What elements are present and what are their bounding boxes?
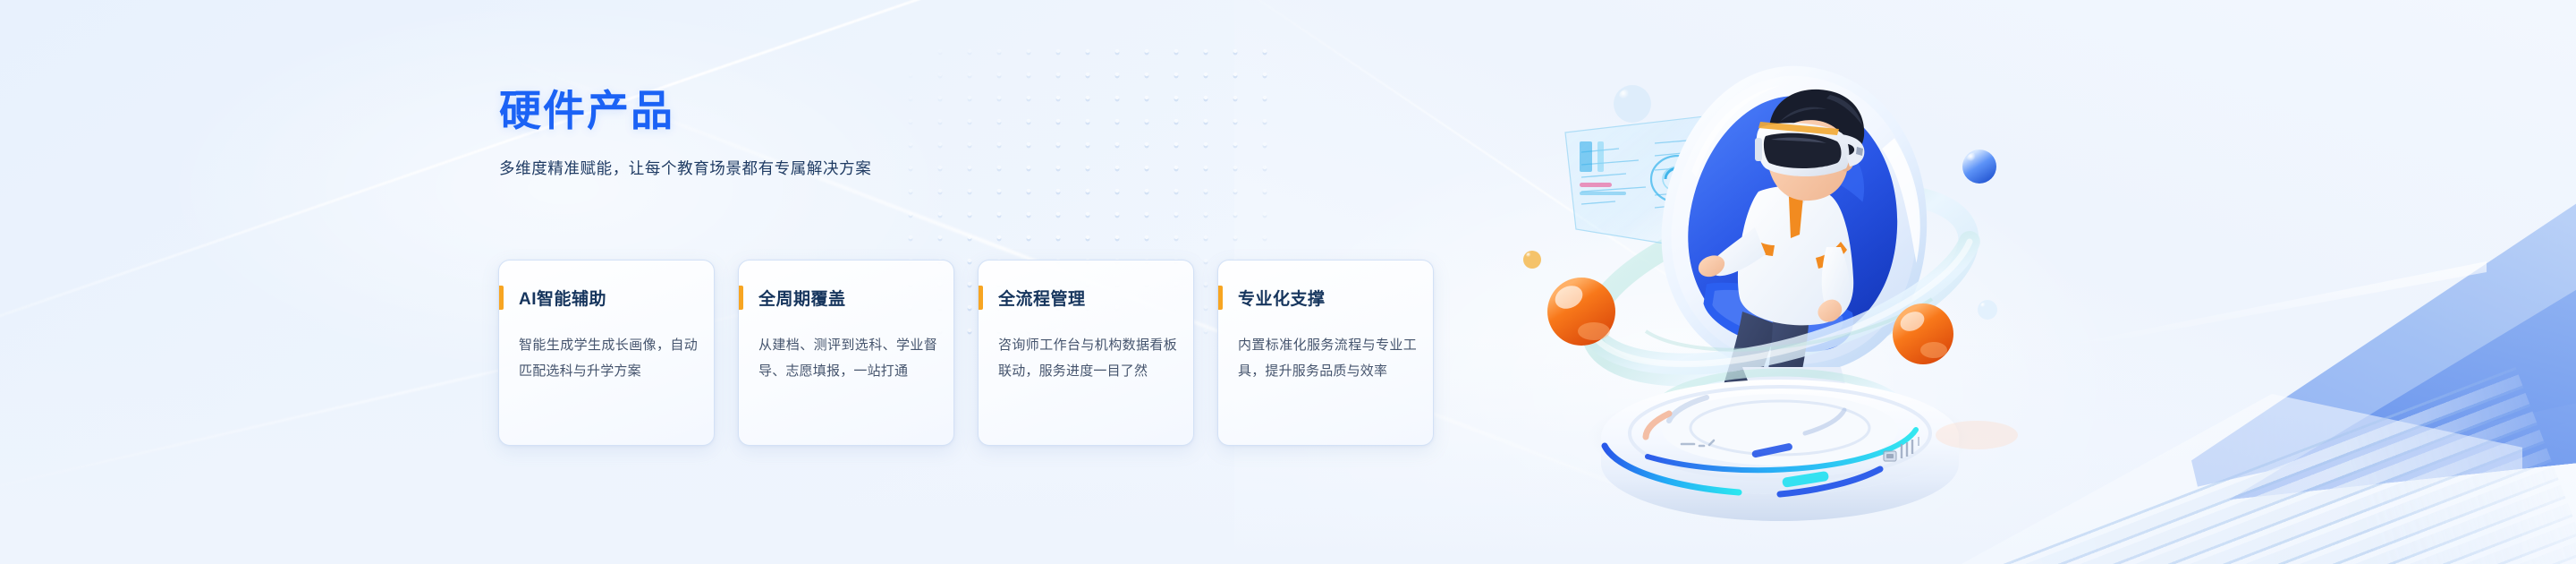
card-body-text: 从建档、测评到选科、学业督导、志愿填报，一站打通	[758, 332, 937, 385]
card-title: AI智能辅助	[519, 286, 606, 310]
sphere-glass-top	[1614, 85, 1651, 123]
feature-card-full-process[interactable]: 全流程管理 咨询师工作台与机构数据看板联动，服务进度一目了然	[978, 260, 1194, 446]
card-title: 全周期覆盖	[758, 286, 846, 310]
accent-bar-icon	[1218, 286, 1223, 310]
hardware-product-banner: 硬件产品 多维度精准赋能，让每个教育场景都有专属解决方案 AI智能辅助 智能生成…	[0, 0, 2576, 564]
card-header: AI智能辅助	[499, 286, 606, 310]
card-header: 专业化支撑	[1218, 286, 1326, 310]
page-title: 硬件产品	[499, 88, 1465, 135]
card-body-text: 智能生成学生成长画像，自动匹配选科与升学方案	[519, 332, 698, 385]
sphere-orange-left	[1547, 278, 1615, 346]
accent-bar-icon	[499, 286, 504, 310]
vr-student-pod-illustration	[1512, 16, 2048, 553]
card-body-text: 内置标准化服务流程与专业工具，提升服务品质与效率	[1238, 332, 1417, 385]
accent-bar-icon	[979, 286, 983, 310]
card-title: 全流程管理	[998, 286, 1086, 310]
card-title: 专业化支撑	[1238, 286, 1326, 310]
feature-card-ai-assist[interactable]: AI智能辅助 智能生成学生成长画像，自动匹配选科与升学方案	[498, 260, 715, 446]
feature-card-professional-support[interactable]: 专业化支撑 内置标准化服务流程与专业工具，提升服务品质与效率	[1217, 260, 1434, 446]
feature-card-full-cycle[interactable]: 全周期覆盖 从建档、测评到选科、学业督导、志愿填报，一站打通	[738, 260, 954, 446]
text-content-block: 硬件产品 多维度精准赋能，让每个教育场景都有专属解决方案	[499, 88, 1465, 179]
card-header: 全流程管理	[979, 286, 1086, 310]
sphere-orange-right	[1893, 303, 1953, 364]
card-body-text: 咨询师工作台与机构数据看板联动，服务进度一目了然	[998, 332, 1177, 385]
sphere-blue-right	[1962, 150, 1996, 184]
sphere-amber-small	[1523, 251, 1541, 269]
feature-card-list: AI智能辅助 智能生成学生成长画像，自动匹配选科与升学方案 全周期覆盖 从建档、…	[498, 260, 1434, 446]
accent-bar-icon	[739, 286, 743, 310]
card-header: 全周期覆盖	[739, 286, 846, 310]
sphere-glass-small-right	[1978, 300, 1997, 320]
lens-flare	[1936, 421, 2018, 449]
page-subtitle: 多维度精准赋能，让每个教育场景都有专属解决方案	[499, 157, 1465, 179]
platform-base	[1601, 367, 1959, 521]
